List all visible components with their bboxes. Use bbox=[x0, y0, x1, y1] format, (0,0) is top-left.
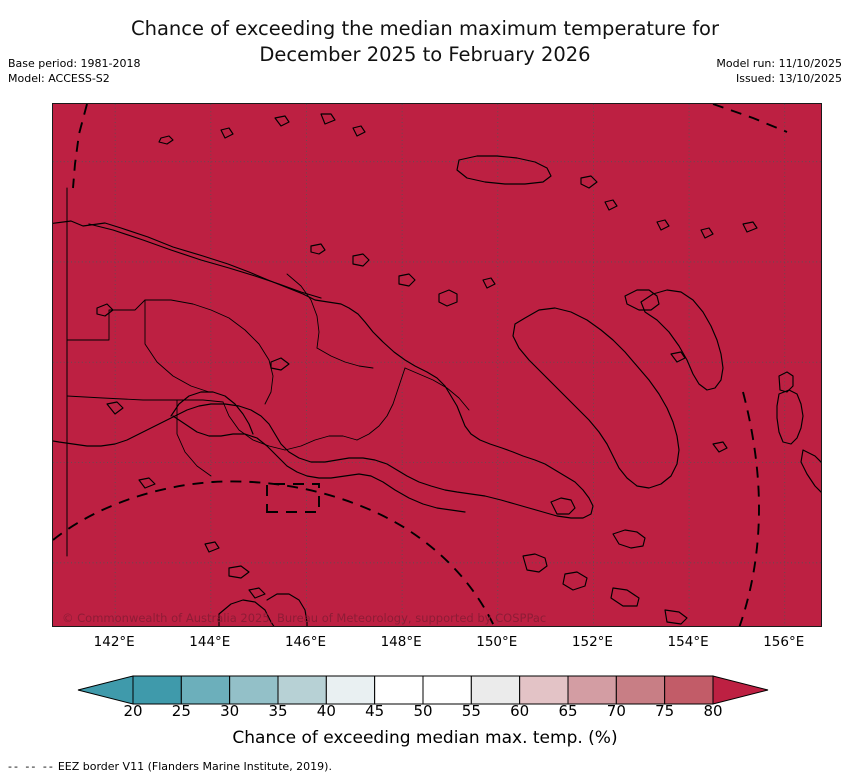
colorbar-segment[interactable] bbox=[520, 676, 568, 704]
issued-text: Issued: 13/10/2025 bbox=[716, 71, 842, 86]
eez-footnote-text: EEZ border V11 (Flanders Marine Institut… bbox=[58, 760, 332, 773]
eez-footnote: -- -- --EEZ border V11 (Flanders Marine … bbox=[8, 760, 332, 773]
model-text: Model: ACCESS-S2 bbox=[8, 71, 140, 86]
colorbar-segment[interactable] bbox=[375, 676, 423, 704]
colorbar-segment[interactable] bbox=[230, 676, 278, 704]
metadata-left: Base period: 1981-2018 Model: ACCESS-S2 bbox=[8, 56, 140, 86]
colorbar-segment[interactable] bbox=[181, 676, 229, 704]
metadata-right: Model run: 11/10/2025 Issued: 13/10/2025 bbox=[716, 56, 842, 86]
colorbar-segment[interactable] bbox=[423, 676, 471, 704]
lon-tick-label: 146°E bbox=[265, 634, 345, 650]
lon-tick-label: 150°E bbox=[457, 634, 537, 650]
lon-tick-label: 148°E bbox=[361, 634, 441, 650]
base-period-text: Base period: 1981-2018 bbox=[8, 56, 140, 71]
colorbar-segment[interactable] bbox=[471, 676, 519, 704]
map-value-field bbox=[53, 104, 822, 627]
map-graphic bbox=[53, 104, 822, 627]
colorbar-under-arrow bbox=[78, 676, 133, 704]
lon-tick-label: 154°E bbox=[648, 634, 728, 650]
eez-dash-sample: -- -- -- bbox=[8, 760, 55, 773]
lon-tick-label: 144°E bbox=[170, 634, 250, 650]
colorbar-tick-label: 80 bbox=[683, 702, 743, 720]
model-run-text: Model run: 11/10/2025 bbox=[716, 56, 842, 71]
colorbar-label: Chance of exceeding median max. temp. (%… bbox=[0, 728, 850, 748]
lon-tick-label: 152°E bbox=[552, 634, 632, 650]
colorbar-over-arrow bbox=[713, 676, 768, 704]
lon-tick-label: 156°E bbox=[744, 634, 824, 650]
lon-tick-label: 142°E bbox=[74, 634, 154, 650]
colorbar-segment[interactable] bbox=[568, 676, 616, 704]
map-canvas[interactable] bbox=[52, 103, 822, 627]
colorbar-segment[interactable] bbox=[278, 676, 326, 704]
colorbar-segment[interactable] bbox=[133, 676, 181, 704]
colorbar-segment[interactable] bbox=[616, 676, 664, 704]
colorbar-segment[interactable] bbox=[665, 676, 713, 704]
title-line-1: Chance of exceeding the median maximum t… bbox=[0, 16, 850, 42]
colorbar-segment[interactable] bbox=[326, 676, 374, 704]
